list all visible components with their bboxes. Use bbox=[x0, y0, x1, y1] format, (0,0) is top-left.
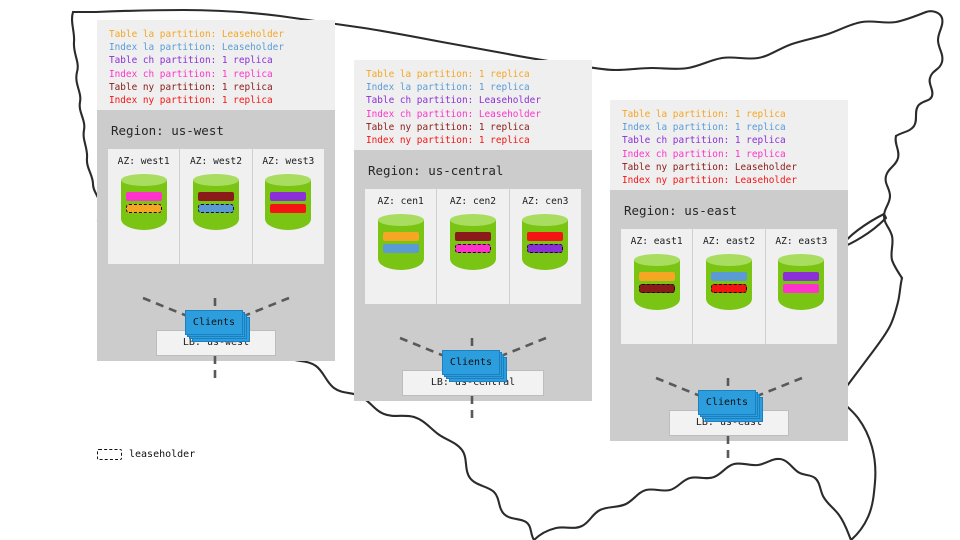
partition-bars bbox=[383, 232, 419, 253]
region-title: Region: us-west bbox=[97, 110, 335, 149]
cylinder-top bbox=[378, 214, 424, 226]
partition-bars bbox=[198, 192, 234, 213]
partition-legend-line: Index ny partition: Leaseholder bbox=[622, 174, 838, 187]
cylinder-top bbox=[265, 174, 311, 186]
partition-bars bbox=[270, 192, 306, 213]
partition-legend-us-central: Table la partition: 1 replica Index la p… bbox=[354, 60, 592, 150]
partition-legend-line: Index la partition: 1 replica bbox=[622, 121, 838, 134]
cylinder-top bbox=[450, 214, 496, 226]
partition-legend-us-west: Table la partition: Leaseholder Index la… bbox=[97, 20, 335, 110]
partition-legend-line: Index ny partition: 1 replica bbox=[366, 134, 582, 147]
partition-bars bbox=[783, 272, 819, 293]
az-cell-east3[interactable]: AZ: east3 bbox=[766, 229, 837, 344]
partition-bar bbox=[711, 272, 747, 281]
partition-bar-leaseholder bbox=[639, 284, 675, 293]
partition-bars bbox=[527, 232, 563, 253]
az-label: AZ: east3 bbox=[775, 236, 827, 247]
partition-bar bbox=[270, 192, 306, 201]
partition-bar bbox=[198, 192, 234, 201]
partition-legend-line: Index ch partition: 1 replica bbox=[109, 68, 325, 81]
az-cell-cen2[interactable]: AZ: cen2 bbox=[437, 189, 509, 304]
region-title: Region: us-east bbox=[610, 190, 848, 229]
partition-bars bbox=[711, 272, 747, 293]
partition-legend-line: Index la partition: 1 replica bbox=[366, 81, 582, 94]
partition-bar bbox=[639, 272, 675, 281]
cylinder-top bbox=[706, 254, 752, 266]
db-node-icon[interactable] bbox=[706, 254, 752, 316]
partition-legend-line: Index ch partition: 1 replica bbox=[622, 148, 838, 161]
partition-bar bbox=[527, 232, 563, 241]
clients-us-west[interactable]: Clients bbox=[185, 310, 247, 339]
partition-bar bbox=[383, 232, 419, 241]
az-label: AZ: east2 bbox=[703, 236, 755, 247]
cylinder-top bbox=[121, 174, 167, 186]
db-node-icon[interactable] bbox=[265, 174, 311, 236]
partition-legend-line: Table ch partition: 1 replica bbox=[109, 54, 325, 67]
db-node-icon[interactable] bbox=[450, 214, 496, 276]
clients-label[interactable]: Clients bbox=[185, 310, 243, 335]
partition-bar-leaseholder bbox=[126, 204, 162, 213]
db-node-icon[interactable] bbox=[378, 214, 424, 276]
clients-label[interactable]: Clients bbox=[698, 390, 756, 415]
region-cluster-us-central: Table la partition: 1 replica Index la p… bbox=[354, 60, 592, 401]
leaseholder-legend-label: leaseholder bbox=[129, 449, 195, 460]
partition-bar bbox=[383, 244, 419, 253]
az-cell-west3[interactable]: AZ: west3 bbox=[253, 149, 324, 264]
az-label: AZ: cen3 bbox=[522, 196, 568, 207]
partition-legend-line: Table ch partition: 1 replica bbox=[622, 134, 838, 147]
az-label: AZ: west2 bbox=[190, 156, 242, 167]
partition-bar bbox=[270, 204, 306, 213]
dashed-rect-icon bbox=[97, 449, 122, 460]
partition-legend-line: Table la partition: 1 replica bbox=[622, 108, 838, 121]
az-cell-west2[interactable]: AZ: west2 bbox=[180, 149, 252, 264]
partition-bar bbox=[455, 232, 491, 241]
region-cluster-us-west: Table la partition: Leaseholder Index la… bbox=[97, 20, 335, 361]
partition-bar-leaseholder bbox=[198, 204, 234, 213]
partition-legend-line: Table la partition: Leaseholder bbox=[109, 28, 325, 41]
clients-us-central[interactable]: Clients bbox=[442, 350, 504, 379]
partition-legend-line: Index ny partition: 1 replica bbox=[109, 94, 325, 107]
az-cell-east2[interactable]: AZ: east2 bbox=[693, 229, 765, 344]
partition-legend-line: Index la partition: Leaseholder bbox=[109, 41, 325, 54]
partition-bar-leaseholder bbox=[527, 244, 563, 253]
partition-bars bbox=[639, 272, 675, 293]
partition-bar bbox=[783, 284, 819, 293]
db-node-icon[interactable] bbox=[778, 254, 824, 316]
partition-legend-line: Index ch partition: Leaseholder bbox=[366, 108, 582, 121]
clients-us-east[interactable]: Clients bbox=[698, 390, 760, 419]
cylinder-top bbox=[522, 214, 568, 226]
az-row: AZ: west1 AZ: west2 bbox=[108, 149, 324, 264]
partition-bar bbox=[126, 192, 162, 201]
partition-legend-line: Table ny partition: 1 replica bbox=[366, 121, 582, 134]
cylinder-top bbox=[193, 174, 239, 186]
partition-legend-us-east: Table la partition: 1 replica Index la p… bbox=[610, 100, 848, 190]
az-label: AZ: cen2 bbox=[450, 196, 496, 207]
az-label: AZ: west3 bbox=[262, 156, 314, 167]
partition-legend-line: Table ny partition: Leaseholder bbox=[622, 161, 838, 174]
db-node-icon[interactable] bbox=[193, 174, 239, 236]
partition-bar-leaseholder bbox=[711, 284, 747, 293]
partition-bars bbox=[455, 232, 491, 253]
az-cell-east1[interactable]: AZ: east1 bbox=[621, 229, 693, 344]
partition-legend-line: Table ch partition: Leaseholder bbox=[366, 94, 582, 107]
partition-legend-line: Table la partition: 1 replica bbox=[366, 68, 582, 81]
partition-legend-line: Table ny partition: 1 replica bbox=[109, 81, 325, 94]
az-label: AZ: cen1 bbox=[378, 196, 424, 207]
partition-bar bbox=[783, 272, 819, 281]
az-label: AZ: west1 bbox=[118, 156, 170, 167]
leaseholder-legend: leaseholder bbox=[97, 449, 195, 460]
db-node-icon[interactable] bbox=[634, 254, 680, 316]
az-label: AZ: east1 bbox=[631, 236, 683, 247]
cylinder-top bbox=[778, 254, 824, 266]
clients-label[interactable]: Clients bbox=[442, 350, 500, 375]
az-cell-cen1[interactable]: AZ: cen1 bbox=[365, 189, 437, 304]
az-cell-west1[interactable]: AZ: west1 bbox=[108, 149, 180, 264]
az-row: AZ: cen1 AZ: cen2 bbox=[365, 189, 581, 304]
diagram-canvas: Table la partition: Leaseholder Index la… bbox=[0, 0, 960, 540]
az-row: AZ: east1 AZ: east2 bbox=[621, 229, 837, 344]
az-cell-cen3[interactable]: AZ: cen3 bbox=[510, 189, 581, 304]
region-cluster-us-east: Table la partition: 1 replica Index la p… bbox=[610, 100, 848, 441]
db-node-icon[interactable] bbox=[522, 214, 568, 276]
db-node-icon[interactable] bbox=[121, 174, 167, 236]
region-title: Region: us-central bbox=[354, 150, 592, 189]
partition-bars bbox=[126, 192, 162, 213]
partition-bar-leaseholder bbox=[455, 244, 491, 253]
cylinder-top bbox=[634, 254, 680, 266]
